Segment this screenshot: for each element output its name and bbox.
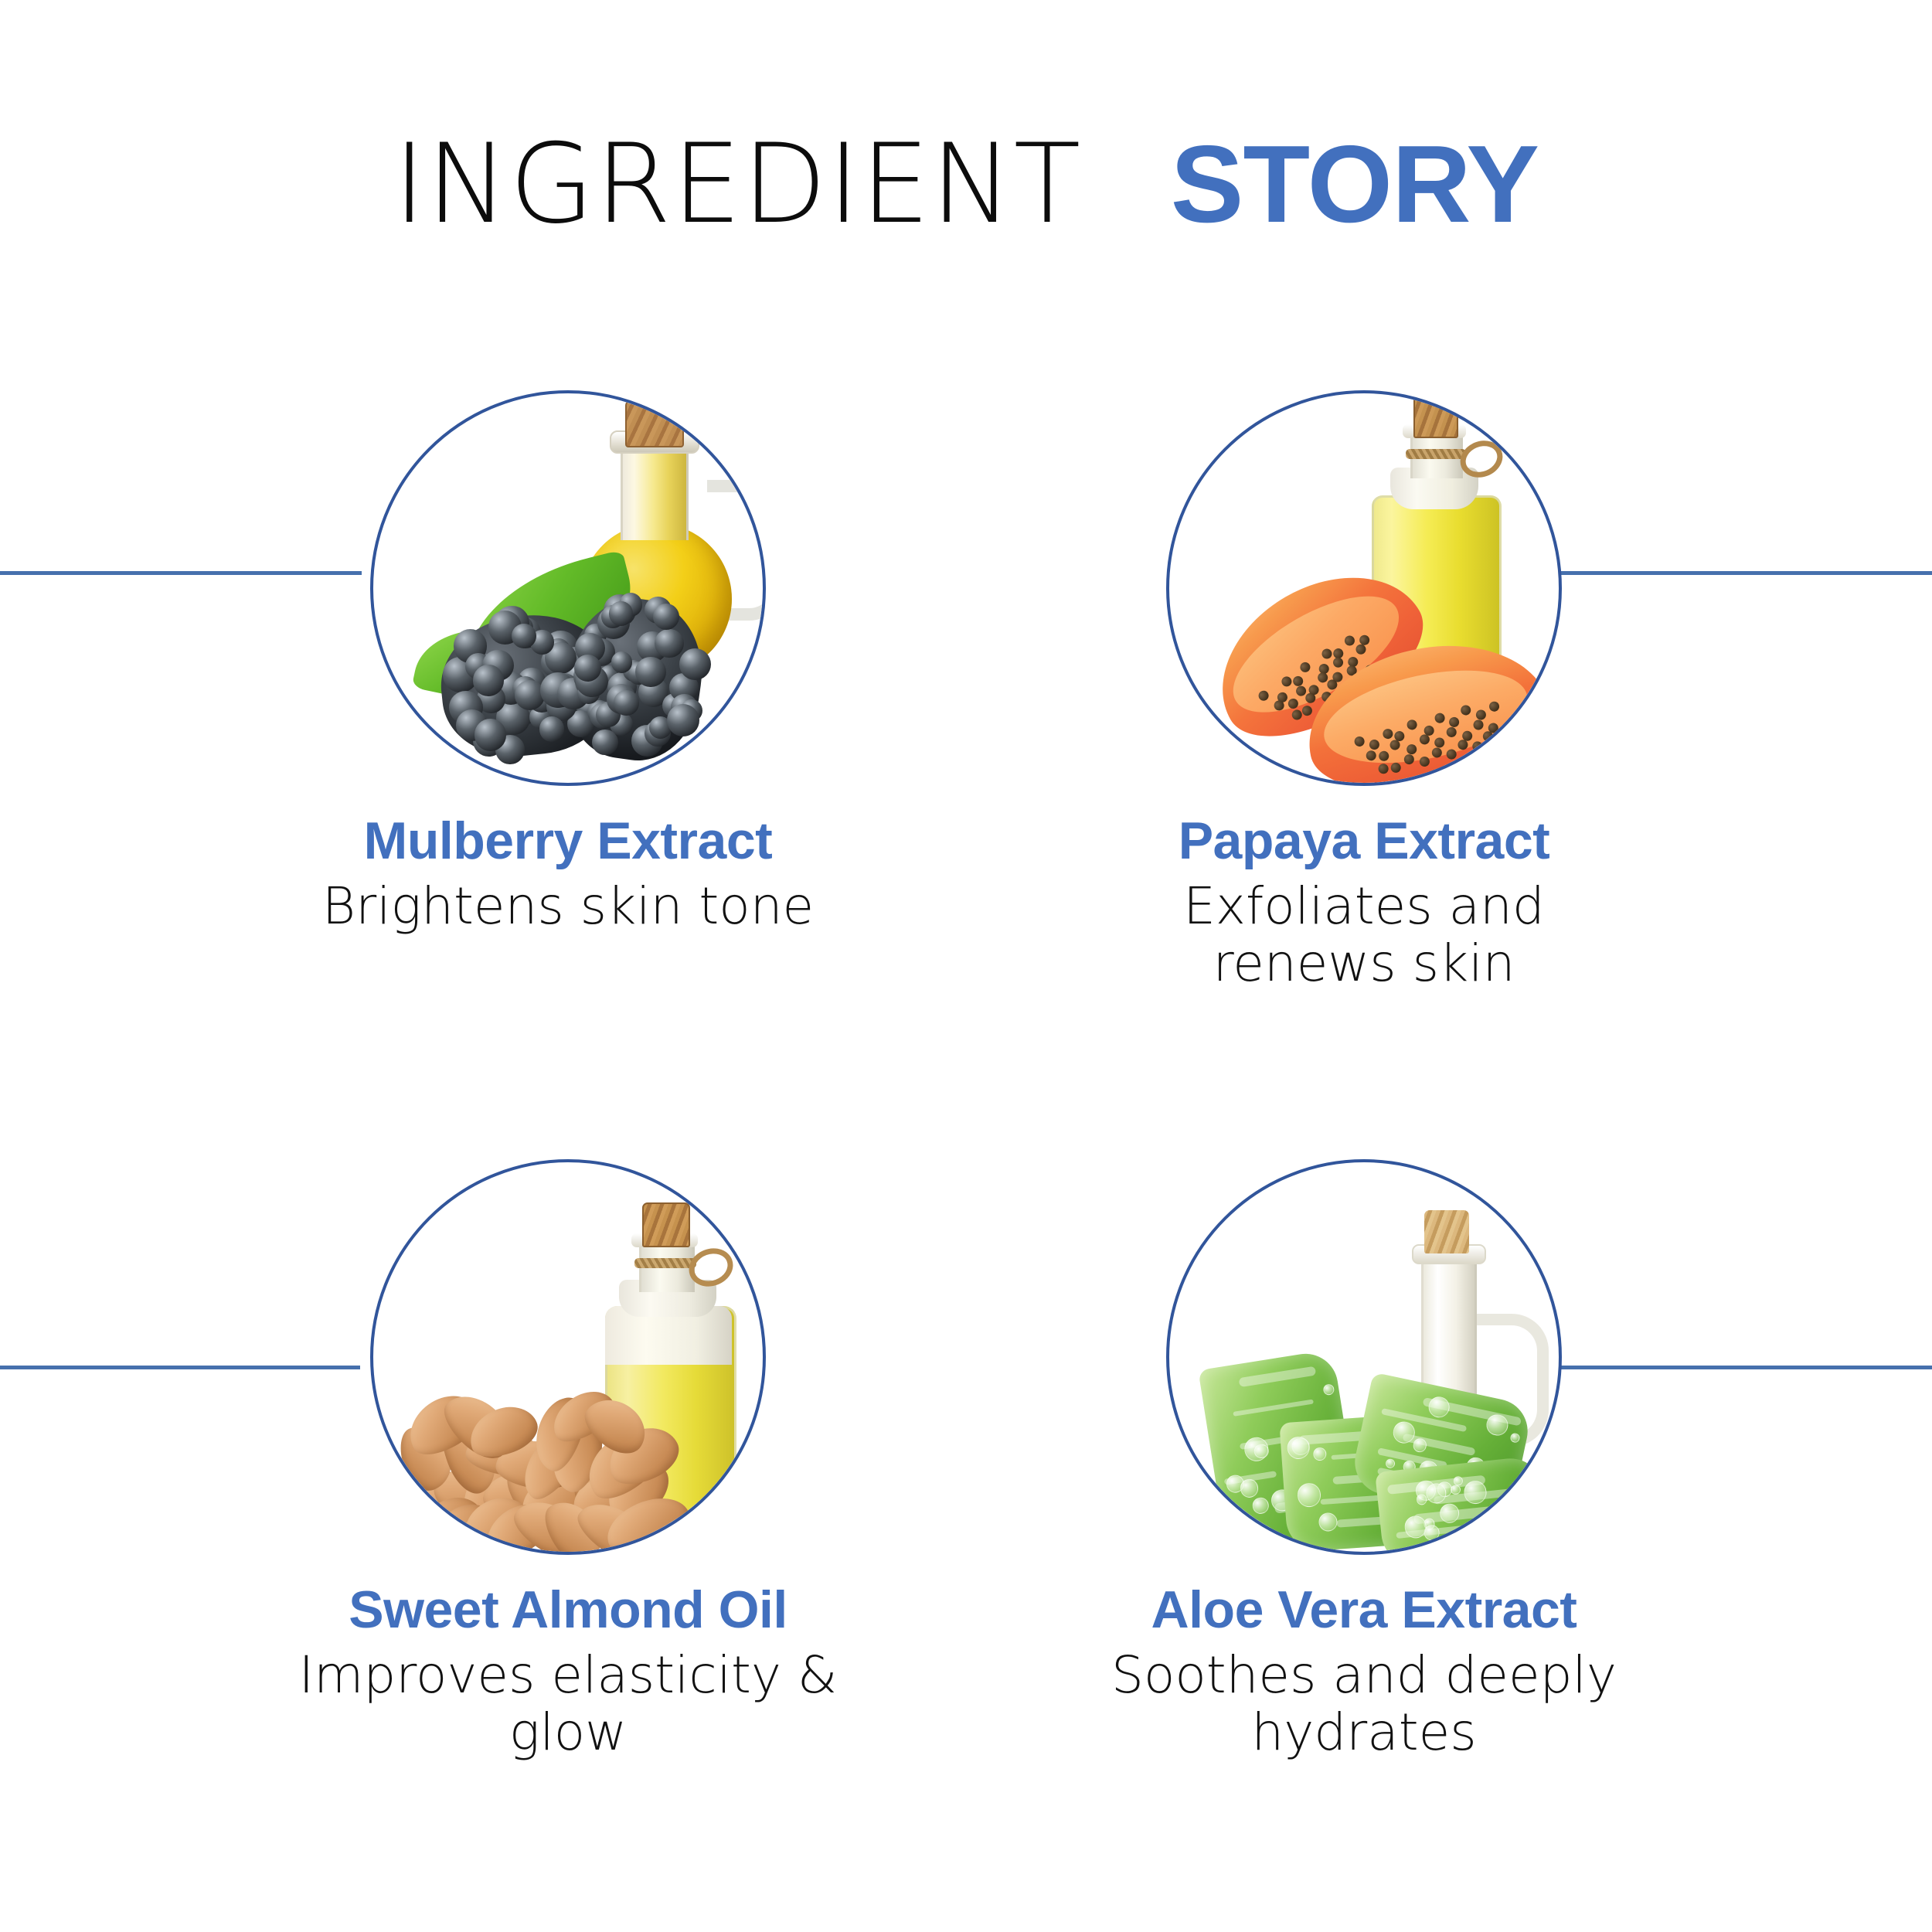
ingredient-name-mulberry: Mulberry Extract [170,814,966,869]
ingredient-description-aloe-vera: Soothes and deeply hydrates [1047,1647,1681,1761]
twine-icon [634,1258,696,1268]
ingredient-image-circle-papaya [1166,390,1562,786]
mulberry-artwork [373,393,763,783]
twine-icon [1406,449,1466,459]
page-title: INGREDIENT STORY [0,130,1932,240]
papaya-artwork [1169,393,1559,783]
page-title-light: INGREDIENT [393,121,1081,248]
ingredient-story-infographic: INGREDIENT STORY [0,0,1932,1932]
ingredient-image-circle-aloe-vera [1166,1159,1562,1555]
ingredient-card-sweet-almond-oil: Sweet Almond Oil Improves elasticity & g… [170,1159,966,1761]
page-title-bold: STORY [1171,123,1539,246]
cork-stopper-icon [1413,395,1458,438]
ingredient-image-circle-mulberry [370,390,766,786]
ingredient-image-circle-sweet-almond-oil [370,1159,766,1555]
ingredient-description-mulberry: Brightens skin tone [298,878,838,935]
ingredient-description-sweet-almond-oil: Improves elasticity & glow [251,1647,885,1761]
aloe-artwork [1169,1162,1559,1552]
ingredient-card-aloe-vera: Aloe Vera Extract Soothes and deeply hyd… [966,1159,1762,1761]
oil-carafe-neck-icon [621,441,689,540]
cork-stopper-icon [625,400,684,447]
ingredient-card-papaya: Papaya Extract Exfoliates and renews ski… [966,390,1762,992]
ingredient-card-mulberry: Mulberry Extract Brightens skin tone [170,390,966,935]
ingredient-name-papaya: Papaya Extract [966,814,1762,869]
almond-artwork [373,1162,763,1552]
ingredient-description-papaya: Exfoliates and renews skin [1094,878,1634,992]
ingredient-name-sweet-almond-oil: Sweet Almond Oil [170,1583,966,1638]
ingredient-name-aloe-vera: Aloe Vera Extract [966,1583,1762,1638]
cork-stopper-icon [1424,1210,1469,1253]
cork-stopper-icon [642,1202,690,1247]
aloe-vera-slice-icon [1375,1455,1549,1552]
